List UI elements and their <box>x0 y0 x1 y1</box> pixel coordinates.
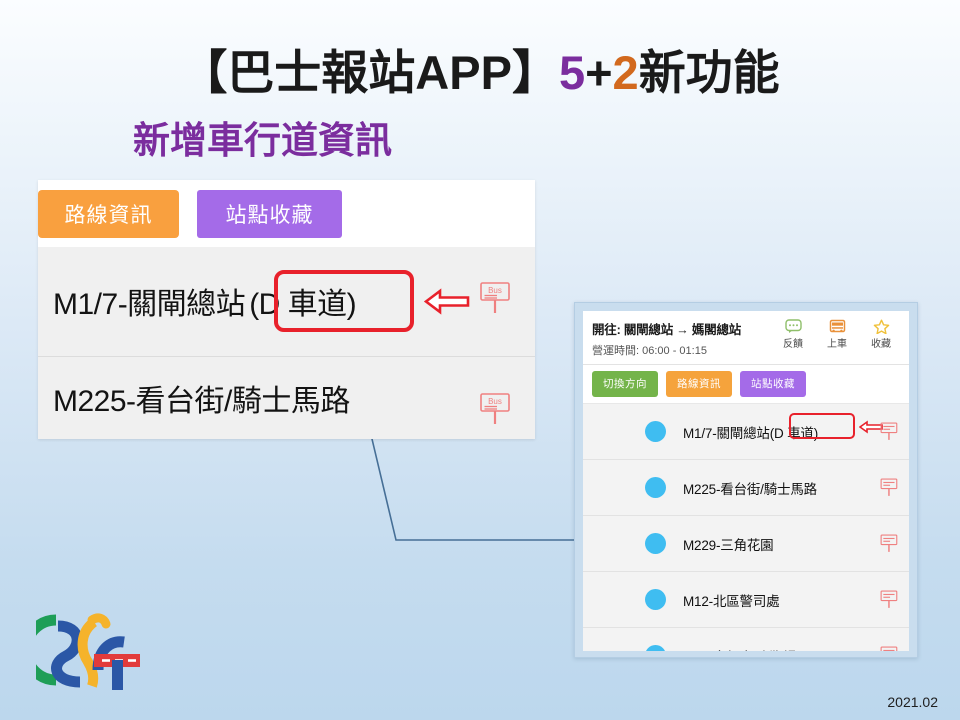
bus-stop-sign-icon <box>880 590 899 609</box>
lane-highlight-box <box>789 413 855 439</box>
svg-text:Bus: Bus <box>488 286 502 295</box>
callout-arrow-icon <box>424 288 470 315</box>
stop-dot <box>645 477 666 498</box>
stop-dot <box>645 645 666 651</box>
operating-hours-label: 營運時間: 06:00 - 01:15 <box>592 342 741 358</box>
chat-icon <box>785 319 802 334</box>
title-prefix: 【巴士報站APP】 <box>180 46 559 99</box>
slide-date: 2021.02 <box>887 694 938 710</box>
stop-dot <box>645 533 666 554</box>
zoom-row-2-stop-name: M225-看台街/騎士馬路 <box>53 376 350 420</box>
tab-route-info[interactable]: 路線資訊 <box>38 190 179 238</box>
stop-label: M12-北區警司處 <box>683 590 779 610</box>
route-direction-label: 開往: 關閘總站 → 媽閣總站 <box>592 319 741 338</box>
list-item[interactable]: M1/7-關閘總站(D 車道) <box>583 404 909 460</box>
list-item[interactable]: M225-看台街/騎士馬路 <box>583 460 909 516</box>
action-feedback[interactable]: 反饋 <box>777 319 809 350</box>
zoom-card-tab-bar: 路線資訊 站點收藏 <box>38 190 342 238</box>
action-favorite-label: 收藏 <box>871 335 891 350</box>
list-item[interactable]: M229-三角花園 <box>583 516 909 572</box>
stop-dot <box>645 589 666 610</box>
action-feedback-label: 反饋 <box>783 335 803 350</box>
stop-name-text: M1/7-關閘總站 <box>683 426 770 441</box>
phone-header: 開往: 關閘總站 → 媽閣總站 營運時間: 06:00 - 01:15 反饋 <box>583 311 909 365</box>
slide-subtitle: 新增車行道資訊 <box>133 110 392 164</box>
title-plus-sign: + <box>585 46 612 99</box>
bus-stop-sign-icon: Bus <box>479 281 513 315</box>
zoom-card-row-2[interactable]: M225-看台街/騎士馬路 <box>38 357 535 439</box>
button-route-info[interactable]: 路線資訊 <box>666 371 732 397</box>
phone-header-actions: 反饋 上車 收藏 <box>777 318 900 350</box>
bus-stop-sign-icon <box>880 478 899 497</box>
bus-stop-sign-icon <box>880 534 899 553</box>
bus-stop-sign-icon <box>880 422 899 441</box>
stop-label: M225-看台街/騎士馬路 <box>683 478 817 498</box>
stop-label: M31-白朗古/跑狗場 <box>683 646 796 652</box>
phone-screen: 開往: 關閘總站 → 媽閣總站 營運時間: 06:00 - 01:15 反饋 <box>583 311 909 651</box>
stop-list[interactable]: ▼ ▼ ▼ ▼ ▼ ▼ ▼ ▼ ▼ ▼ ▼ ▼ ▼ ▼ ▼ M1/7-關閘總站(… <box>583 404 909 651</box>
action-board-bus[interactable]: 上車 <box>821 319 853 350</box>
button-stop-favorites[interactable]: 站點收藏 <box>740 371 806 397</box>
bus-stop-sign-icon <box>880 646 899 651</box>
phone-mockup: 開往: 關閘總站 → 媽閣總站 營運時間: 06:00 - 01:15 反饋 <box>574 302 918 658</box>
bus-stop-sign-icon: Bus <box>479 392 513 426</box>
stop-label: M229-三角花園 <box>683 534 773 554</box>
lane-highlight-box <box>274 270 414 332</box>
title-suffix: 新功能 <box>639 46 780 99</box>
phone-header-text: 開往: 關閘總站 → 媽閣總站 營運時間: 06:00 - 01:15 <box>592 318 741 358</box>
list-item[interactable]: M31-白朗古/跑狗場 <box>583 628 909 651</box>
stop-dot <box>645 421 666 442</box>
bus-icon <box>829 319 846 334</box>
star-icon <box>873 319 890 334</box>
list-item[interactable]: M12-北區警司處 <box>583 572 909 628</box>
action-favorite[interactable]: 收藏 <box>865 319 897 350</box>
title-number-5: 5 <box>559 46 585 99</box>
zoom-row-1-stop-name: M1/7-關閘總站 <box>53 288 245 321</box>
button-switch-direction[interactable]: 切換方向 <box>592 371 658 397</box>
svg-text:Bus: Bus <box>488 397 502 406</box>
action-board-bus-label: 上車 <box>827 335 847 350</box>
title-number-2: 2 <box>613 46 639 99</box>
slide-title: 【巴士報站APP】5+2新功能 <box>0 34 960 103</box>
tab-stop-favorites[interactable]: 站點收藏 <box>197 190 342 238</box>
dsat-logo <box>36 610 148 690</box>
phone-button-row: 切換方向 路線資訊 站點收藏 <box>583 365 909 404</box>
